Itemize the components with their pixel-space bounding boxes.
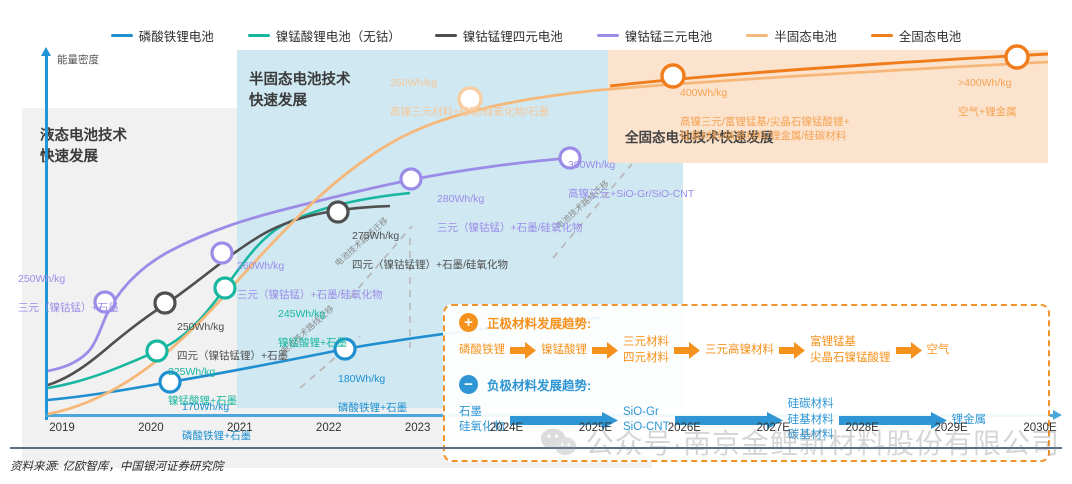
x-tick-2027E: 2027E [757,422,790,434]
x-tick-2022: 2022 [316,422,342,434]
label-ncm-2020: 250Wh/kg 三元（镍钴锰）+石墨 [18,258,119,315]
chart-root: 磷酸铁锂电池镍锰酸锂电池（无钴）镍钴锰锂四元电池镍钴锰三元电池半固态电池全固态电… [0,0,1072,484]
label-desc: 镍锰酸锂+石墨 [278,337,347,349]
arrow-right-icon [510,342,536,359]
chain-node: 三元高镍材料 [705,343,774,359]
label-desc: 高镍三元/富锂锰基/尖晶石镍锰酸锂+ 硅基材料/碳基材料/锂金属/硅碳材料 [680,116,849,142]
x-tick-2020: 2020 [138,422,164,434]
anode-title: 负极材料发展趋势: [487,375,591,394]
x-tick-2028E: 2028E [846,422,879,434]
marker-ncma-2020 [155,293,175,313]
marker-lnmo-2021 [215,278,235,298]
legend-label: 全固态电池 [899,26,962,45]
label-desc: 高镍三元材料+硅碳/硅氧化物/石墨 [390,106,549,118]
arrow-right-icon [779,342,805,359]
chart-legend: 磷酸铁锂电池镍锰酸锂电池（无钴）镍钴锰锂四元电池镍钴锰三元电池半固态电池全固态电… [0,22,1072,48]
legend-item-all-solid[interactable]: 全固态电池 [871,26,962,45]
arrow-right-icon [592,342,618,359]
legend-label: 镍锰酸锂电池（无钴） [276,26,401,45]
label-lfp-2022: 180Wh/kg 磷酸铁锂+石墨 [338,358,407,415]
plus-icon: + [459,313,478,332]
legend-label: 磷酸铁锂电池 [139,26,214,45]
legend-swatch-icon [111,34,133,37]
x-tick-2025E: 2025E [579,422,612,434]
label-desc: 空气+锂金属 [958,106,1017,118]
marker-ncm-2021 [212,243,232,263]
legend-swatch-icon [746,34,768,37]
x-tick-2024E: 2024E [490,422,523,434]
label-ncm-2026: 300Wh/kg 高镍三元+SiO-Gr/SiO-CNT [568,144,694,201]
footer-divider [10,447,1062,449]
cathode-title: 正极材料发展趋势: [487,313,591,332]
legend-item-lnmo[interactable]: 镍锰酸锂电池（无钴） [248,26,401,45]
legend-item-semi-solid[interactable]: 半固态电池 [746,26,837,45]
label-desc: 高镍三元+SiO-Gr/SiO-CNT [568,188,694,200]
label-value: 300Wh/kg [568,159,615,171]
label-value: 280Wh/kg [437,193,484,205]
label-value: 180Wh/kg [338,373,385,385]
legend-swatch-icon [435,34,457,37]
arrow-right-icon [896,342,922,359]
label-value: 225Wh/kg [168,366,215,378]
legend-label: 镍钴锰三元电池 [625,26,713,45]
chain-node: 富锂锰基 尖晶石镍锰酸锂 [810,335,891,366]
label-semi-2024: 350Wh/kg 高镍三元材料+硅碳/硅氧化物/石墨 [390,62,549,119]
label-desc: 三元（镍钴锰）+石墨/硅氧化物 [437,222,583,234]
label-value: 350Wh/kg [390,77,437,89]
legend-label: 镍钴锰锂四元电池 [463,26,563,45]
legend-item-ncm[interactable]: 镍钴锰三元电池 [597,26,713,45]
x-tick-2030E: 2030E [1023,422,1056,434]
chain-node: 空气 [927,343,950,359]
label-value: 275Wh/kg [352,230,399,242]
anode-header: − 负极材料发展趋势: [445,366,1048,394]
marker-ncma-2022 [328,202,348,222]
legend-label: 半固态电池 [774,26,837,45]
marker-ncm-2023 [401,169,421,189]
label-value: 400Wh/kg [680,87,727,99]
label-value: 250Wh/kg [18,273,65,285]
x-tick-2023: 2023 [405,422,431,434]
chain-node: 镍锰酸锂 [541,343,587,359]
minus-icon: − [459,375,478,394]
arrow-right-icon [674,342,700,359]
x-tick-2021: 2021 [227,422,253,434]
x-tick-2026E: 2026E [668,422,701,434]
cathode-chain: 磷酸铁锂镍锰酸锂三元材料 四元材料三元高镍材料富锂锰基 尖晶石镍锰酸锂空气 [445,332,1048,366]
label-lnmo-2021: 245Wh/kg 镍锰酸锂+石墨 [278,293,347,350]
x-axis-ticks: 201920202021202220232024E2025E2026E2027E… [0,422,1072,442]
label-value: 250Wh/kg [177,321,224,333]
source-note: 资料来源: 亿欧智库，中国银河证券研究院 [10,458,223,474]
plot-area: 液态电池技术 快速发展 半固态电池技术 快速发展 全固态电池技术快速发展 能量密… [0,48,1072,420]
x-tick-2019: 2019 [49,422,75,434]
legend-item-lfp[interactable]: 磷酸铁锂电池 [111,26,214,45]
label-value: >400Wh/kg [958,77,1011,89]
cathode-header: + 正极材料发展趋势: [445,306,1048,332]
legend-swatch-icon [871,34,893,37]
label-desc: 磷酸铁锂+石墨 [338,402,407,414]
label-ncm-2023: 280Wh/kg 三元（镍钴锰）+石墨/硅氧化物 [437,178,583,235]
label-solid-2030: >400Wh/kg 空气+锂金属 [958,62,1017,119]
label-value: 245Wh/kg [278,308,325,320]
legend-item-ncma[interactable]: 镍钴锰锂四元电池 [435,26,563,45]
legend-swatch-icon [248,34,270,37]
legend-swatch-icon [597,34,619,37]
label-solid-2026: 400Wh/kg 高镍三元/富锂锰基/尖晶石镍锰酸锂+ 硅基材料/碳基材料/锂金… [680,72,849,143]
chain-node: 三元材料 四元材料 [623,335,669,366]
label-value: 260Wh/kg [237,260,284,272]
label-value: 170Wh/kg [182,401,229,413]
label-desc: 三元（镍钴锰）+石墨 [18,302,119,314]
chain-node: 磷酸铁锂 [459,343,505,359]
x-tick-2029E: 2029E [934,422,967,434]
label-desc: 四元（镍钴锰锂）+石墨/硅氧化物 [352,259,508,271]
marker-lnmo-2020 [147,341,167,361]
